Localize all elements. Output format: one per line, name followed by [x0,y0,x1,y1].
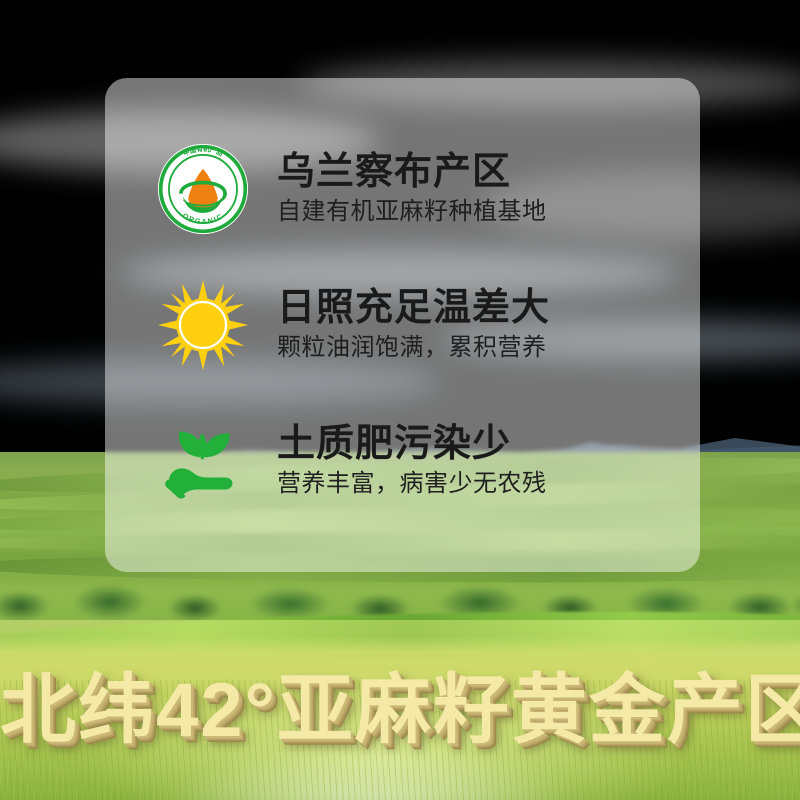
feature-list: 中国有机产品 ORGANIC 乌兰察布产区 自建有机亚麻籽种植基地 [105,78,700,572]
hand-holding-sprout-icon [157,415,249,507]
feature-subtitle: 颗粒油润饱满，累积营养 [277,335,550,361]
feature-row-sunshine: 日照充足温差大 颗粒油润饱满，累积营养 [157,279,700,371]
feature-text-block: 乌兰察布产区 自建有机亚麻籽种植基地 [277,153,547,225]
feature-row-production-area: 中国有机产品 ORGANIC 乌兰察布产区 自建有机亚麻籽种植基地 [157,143,700,235]
feature-title: 日照充足温差大 [277,289,550,329]
feature-title: 乌兰察布产区 [277,153,547,193]
sun-icon [157,279,249,371]
feature-text-block: 土质肥污染少 营养丰富，病害少无农残 [277,425,547,497]
feature-text-block: 日照充足温差大 颗粒油润饱满，累积营养 [277,289,550,361]
china-organic-certification-logo-icon: 中国有机产品 ORGANIC [157,143,249,235]
product-promo-poster: 中国有机产品 ORGANIC 乌兰察布产区 自建有机亚麻籽种植基地 [0,0,800,800]
feature-title: 土质肥污染少 [277,425,547,465]
feature-subtitle: 自建有机亚麻籽种植基地 [277,199,547,225]
bottom-banner-headline: 北纬42°亚麻籽黄金产区 [0,648,800,758]
feature-subtitle: 营养丰富，病害少无农残 [277,471,547,497]
feature-row-soil: 土质肥污染少 营养丰富，病害少无农残 [157,415,700,507]
